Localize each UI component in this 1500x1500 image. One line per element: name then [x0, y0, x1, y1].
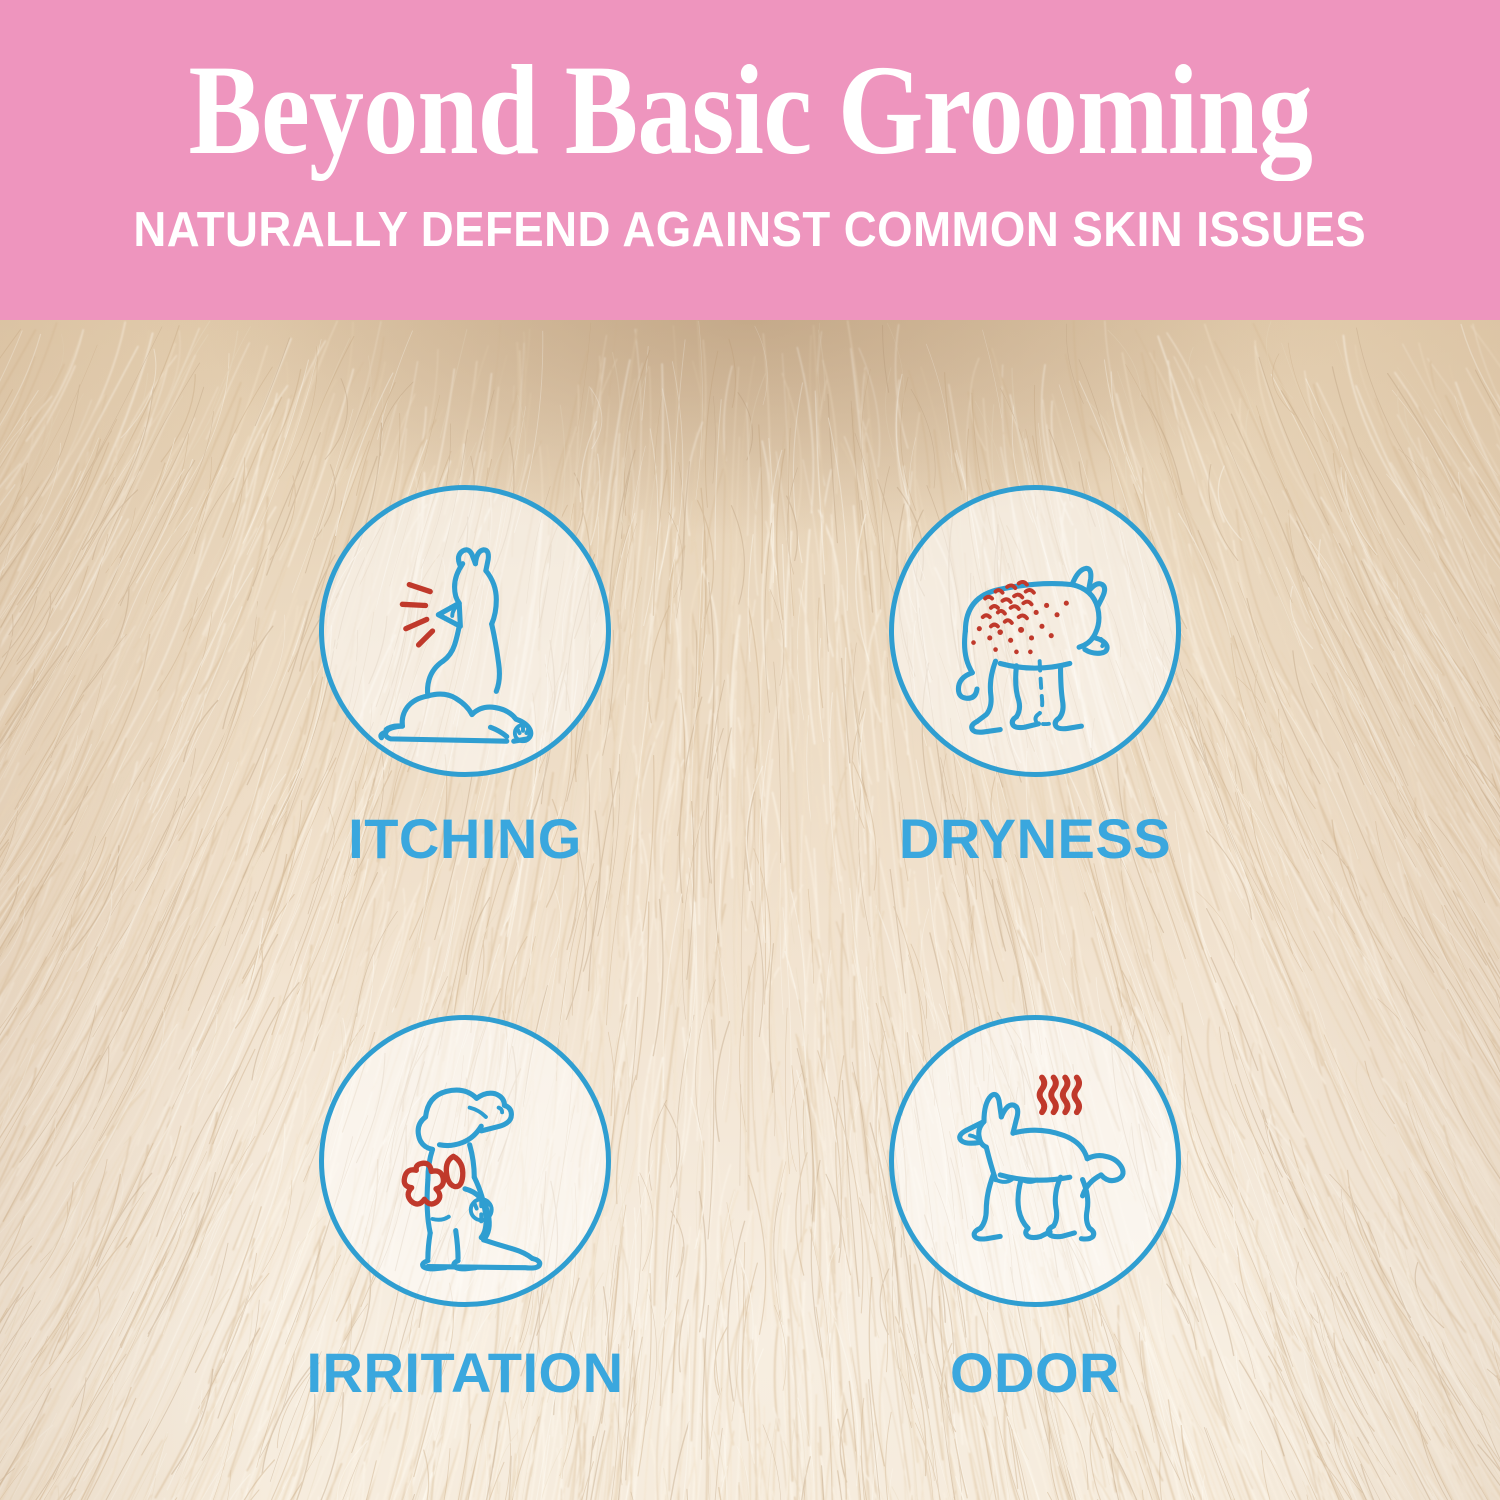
page-subtitle: NATURALLY DEFEND AGAINST COMMON SKIN ISS… [134, 202, 1367, 258]
feature-item-dryness[interactable]: DRYNESS [825, 485, 1245, 867]
badge-circle-odor [889, 1015, 1181, 1307]
feature-item-irritation[interactable]: IRRITATION [255, 1015, 675, 1401]
feature-label-irritation: IRRITATION [255, 1345, 675, 1401]
feature-label-itching: ITCHING [255, 811, 675, 867]
badge-circle-dryness [889, 485, 1181, 777]
dog-scratching-icon [349, 515, 581, 747]
feature-item-itching[interactable]: ITCHING [255, 485, 675, 867]
dog-irritated-patch-icon [349, 1045, 581, 1277]
badge-circle-irritation [319, 1015, 611, 1307]
feature-label-odor: ODOR [825, 1345, 1245, 1401]
feature-item-odor[interactable]: ODOR [825, 1015, 1245, 1401]
feature-label-dryness: DRYNESS [825, 811, 1245, 867]
page-title: Beyond Basic Grooming [188, 46, 1312, 174]
dog-flaky-skin-icon [919, 515, 1151, 747]
badge-circle-itching [319, 485, 611, 777]
dog-odor-icon [919, 1045, 1151, 1277]
feature-grid: ITCHING [0, 320, 1500, 1500]
header-band: Beyond Basic Grooming NATURALLY DEFEND A… [0, 0, 1500, 320]
infographic-page: Beyond Basic Grooming NATURALLY DEFEND A… [0, 0, 1500, 1500]
